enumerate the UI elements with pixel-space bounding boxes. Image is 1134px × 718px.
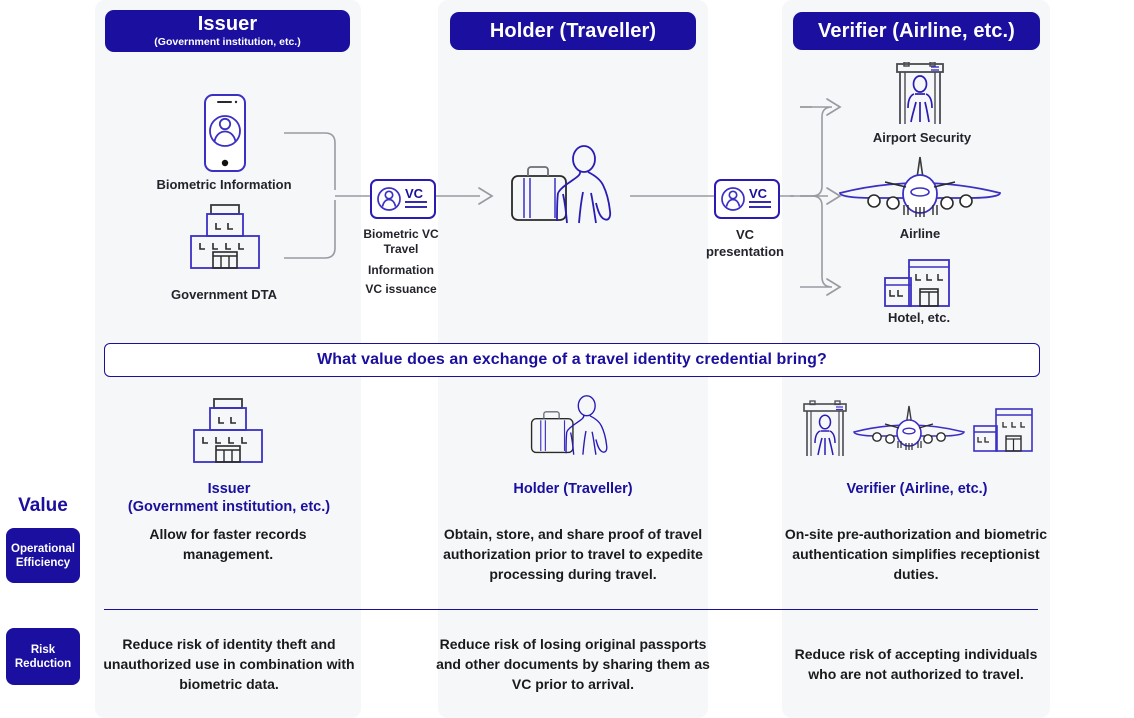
value-question-banner: What value does an exchange of a travel … (104, 343, 1040, 377)
badge-operational-efficiency: Operational Efficiency (6, 528, 80, 583)
badge-rr-line1: Risk (31, 644, 55, 656)
smartphone-biometric-icon (200, 93, 250, 173)
svg-text:VC: VC (749, 186, 768, 201)
badge-risk-reduction: Risk Reduction (6, 628, 80, 685)
label-vc: VC (690, 227, 800, 243)
label-vc-issuance: VC issuance (335, 282, 467, 297)
value-col-holder-oe-text: Obtain, store, and share proof of travel… (432, 524, 714, 584)
header-holder: Holder (Traveller) (450, 12, 696, 50)
value-question-text: What value does an exchange of a travel … (317, 351, 827, 369)
traveller-with-suitcase-icon-value (514, 395, 638, 467)
label-airport-security: Airport Security (842, 130, 1002, 146)
value-col-verifier-title: Verifier (Airline, etc.) (790, 480, 1044, 498)
vc-credential-card-icon-issuance: VC (370, 179, 436, 219)
traveller-with-suitcase-icon (508, 145, 632, 239)
government-building-icon (183, 203, 267, 271)
header-issuer-subtitle: (Government institution, etc.) (154, 36, 300, 49)
label-biometric-information: Biometric Information (124, 177, 324, 193)
value-rail-title: Value (0, 495, 86, 517)
svg-text:VC: VC (405, 186, 424, 201)
hotel-building-icon (876, 258, 964, 310)
value-col-verifier-title-l1: Verifier (Airline, etc.) (846, 481, 987, 497)
label-airline: Airline (860, 226, 980, 242)
header-holder-title: Holder (Traveller) (490, 20, 656, 42)
airplane-front-icon (838, 155, 1002, 221)
header-verifier: Verifier (Airline, etc.) (793, 12, 1040, 50)
label-information: Information (340, 263, 462, 278)
label-travel: Travel (340, 242, 462, 257)
badge-oe-line2: Efficiency (16, 557, 70, 569)
badge-oe-line1: Operational (11, 543, 75, 555)
vc-credential-card-icon-presentation: VC (714, 179, 780, 219)
label-biometric-vc: Biometric VC (340, 227, 462, 242)
section-divider (104, 609, 1038, 610)
verifier-trio-icon (798, 400, 1038, 462)
label-government-dta: Government DTA (134, 287, 314, 303)
value-col-issuer-title-l1: Issuer (208, 481, 251, 497)
value-col-issuer-rr-text: Reduce risk of identity theft and unauth… (100, 634, 358, 694)
header-issuer: Issuer (Government institution, etc.) (105, 10, 350, 52)
header-issuer-title: Issuer (198, 13, 258, 35)
value-col-holder-title: Holder (Traveller) (448, 480, 698, 498)
diagram-canvas: Issuer (Government institution, etc.) Ho… (0, 0, 1134, 718)
airport-security-gate-icon (887, 62, 953, 126)
label-hotel: Hotel, etc. (856, 310, 982, 326)
value-col-verifier-oe-text: On-site pre-authorization and biometric … (780, 524, 1052, 584)
value-col-issuer-title: Issuer (Government institution, etc.) (104, 480, 354, 516)
value-col-holder-title-l1: Holder (Traveller) (513, 481, 632, 497)
value-col-issuer-title-l2: (Government institution, etc.) (128, 499, 330, 515)
value-col-issuer-oe-text: Allow for faster records management. (108, 524, 348, 564)
header-verifier-title: Verifier (Airline, etc.) (818, 20, 1015, 42)
value-col-holder-rr-text: Reduce risk of losing original passports… (436, 634, 710, 694)
label-presentation: presentation (685, 244, 805, 260)
value-col-verifier-rr-text: Reduce risk of accepting individuals who… (782, 644, 1050, 684)
government-building-icon-value (186, 397, 270, 465)
badge-rr-line2: Reduction (15, 658, 71, 670)
